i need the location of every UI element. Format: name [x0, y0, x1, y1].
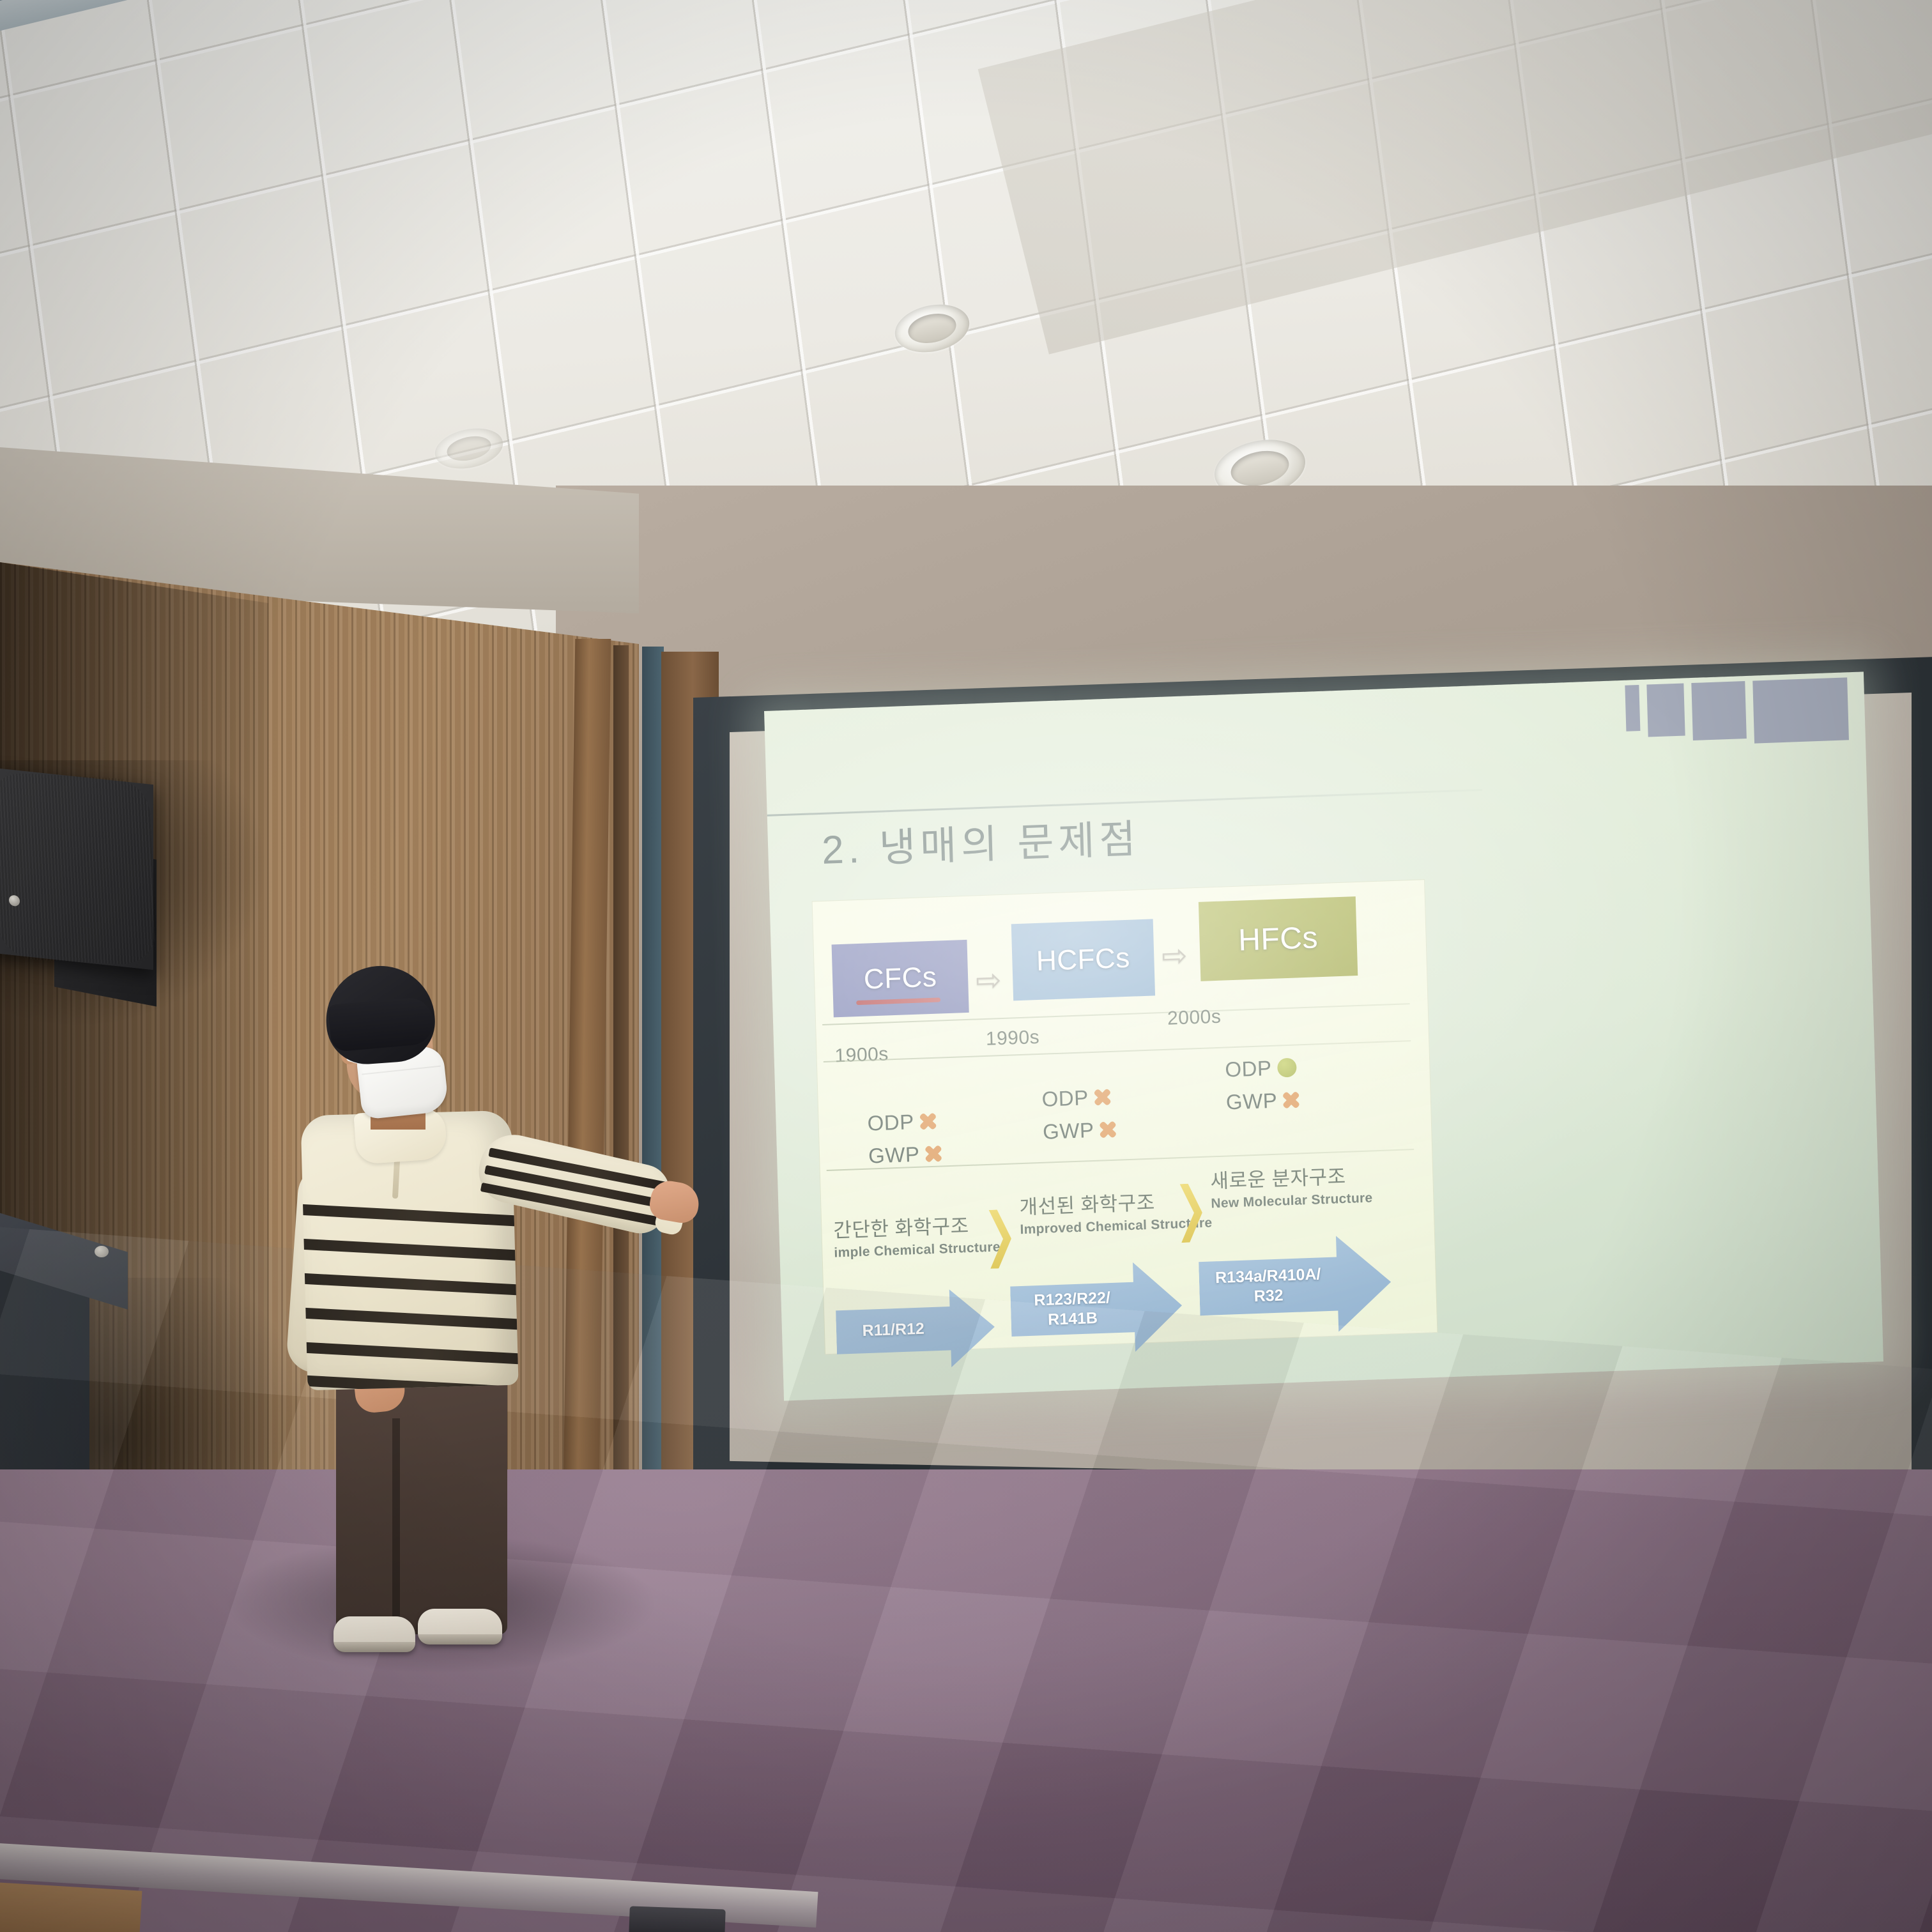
metrics-column-hfcs: ODP GWP	[1225, 1050, 1300, 1118]
flow-arrow-icon: ⇨	[1161, 941, 1188, 972]
metric-odp: ODP	[1225, 1050, 1299, 1085]
x-mark-icon	[925, 1145, 942, 1162]
structure-label-ko: 간단한 화학구조	[833, 1208, 1000, 1243]
decor-block	[1625, 685, 1640, 732]
presenter	[275, 971, 684, 1642]
x-mark-icon	[1100, 1121, 1117, 1138]
floor-object	[629, 1906, 726, 1932]
structure-column-improved: 개선된 화학구조 Improved Chemical Structure	[1019, 1184, 1213, 1238]
decor-block	[1691, 681, 1747, 740]
chem-box-hfcs: HFCs	[1199, 896, 1358, 981]
decor-block	[1752, 677, 1849, 743]
refrigerant-label: R134a/R410A/R32	[1199, 1264, 1338, 1308]
metric-odp: ODP	[867, 1105, 942, 1140]
metric-gwp: GWP	[1042, 1113, 1117, 1148]
x-mark-icon	[1283, 1091, 1300, 1108]
structure-label-en: New Molecular Structure	[1211, 1190, 1373, 1211]
metric-label: GWP	[1225, 1084, 1278, 1119]
x-mark-icon	[919, 1112, 937, 1130]
pants-seam	[392, 1418, 400, 1629]
x-mark-icon	[1094, 1089, 1111, 1106]
chem-box-hcfcs: HCFCs	[1011, 919, 1155, 1000]
circle-mark-icon	[1277, 1057, 1297, 1077]
wall-speaker	[0, 768, 153, 970]
flow-arrow-icon: ⇨	[976, 965, 1002, 997]
presenter-shoe-right	[418, 1609, 502, 1644]
presenter-shoe-left	[333, 1616, 415, 1652]
metrics-column-hcfcs: ODP GWP	[1041, 1080, 1117, 1148]
metric-label: ODP	[1041, 1081, 1089, 1115]
speaker-grille	[0, 772, 158, 966]
chem-box-label: HCFCs	[1036, 942, 1130, 977]
projected-slide: 2. 냉매의 문제점 CFCs ⇨ HCFCs ⇨ HFCs	[764, 671, 1883, 1400]
chem-box-cfcs: CFCs	[832, 940, 969, 1018]
metric-label: GWP	[1042, 1114, 1094, 1148]
lecture-hall-photo: YUNG 2. 냉매의 문제점 CFCs ⇨ HCFCs ⇨	[0, 0, 1932, 1932]
metric-label: ODP	[1225, 1052, 1272, 1086]
chem-box-label: HFCs	[1238, 920, 1318, 958]
metrics-column-cfcs: ODP GWP	[867, 1105, 942, 1172]
structure-label-en: Improved Chemical Structure	[1020, 1215, 1213, 1238]
chem-family-row: CFCs ⇨ HCFCs ⇨ HFCs	[822, 894, 1418, 1019]
year-label: 2000s	[1167, 1006, 1222, 1030]
metrics-row: ODP GWP ODP GWP	[824, 1041, 1420, 1168]
metric-odp: ODP	[1041, 1080, 1116, 1115]
decor-block	[1646, 683, 1685, 737]
slide-decor-blocks	[1625, 677, 1849, 747]
chem-box-label: CFCs	[863, 962, 937, 996]
year-label: 1990s	[985, 1027, 1039, 1050]
metric-label: ODP	[867, 1105, 914, 1140]
slide-diagram-panel: CFCs ⇨ HCFCs ⇨ HFCs 1900s 1990s 2000s	[812, 879, 1438, 1354]
structure-column-new: 새로운 분자구조 New Molecular Structure	[1210, 1159, 1373, 1211]
structure-label-ko: 새로운 분자구조	[1210, 1159, 1372, 1193]
slide-title: 2. 냉매의 문제점	[821, 806, 1141, 875]
cfcs-red-underline	[856, 997, 940, 1005]
metric-gwp: GWP	[1225, 1084, 1300, 1119]
